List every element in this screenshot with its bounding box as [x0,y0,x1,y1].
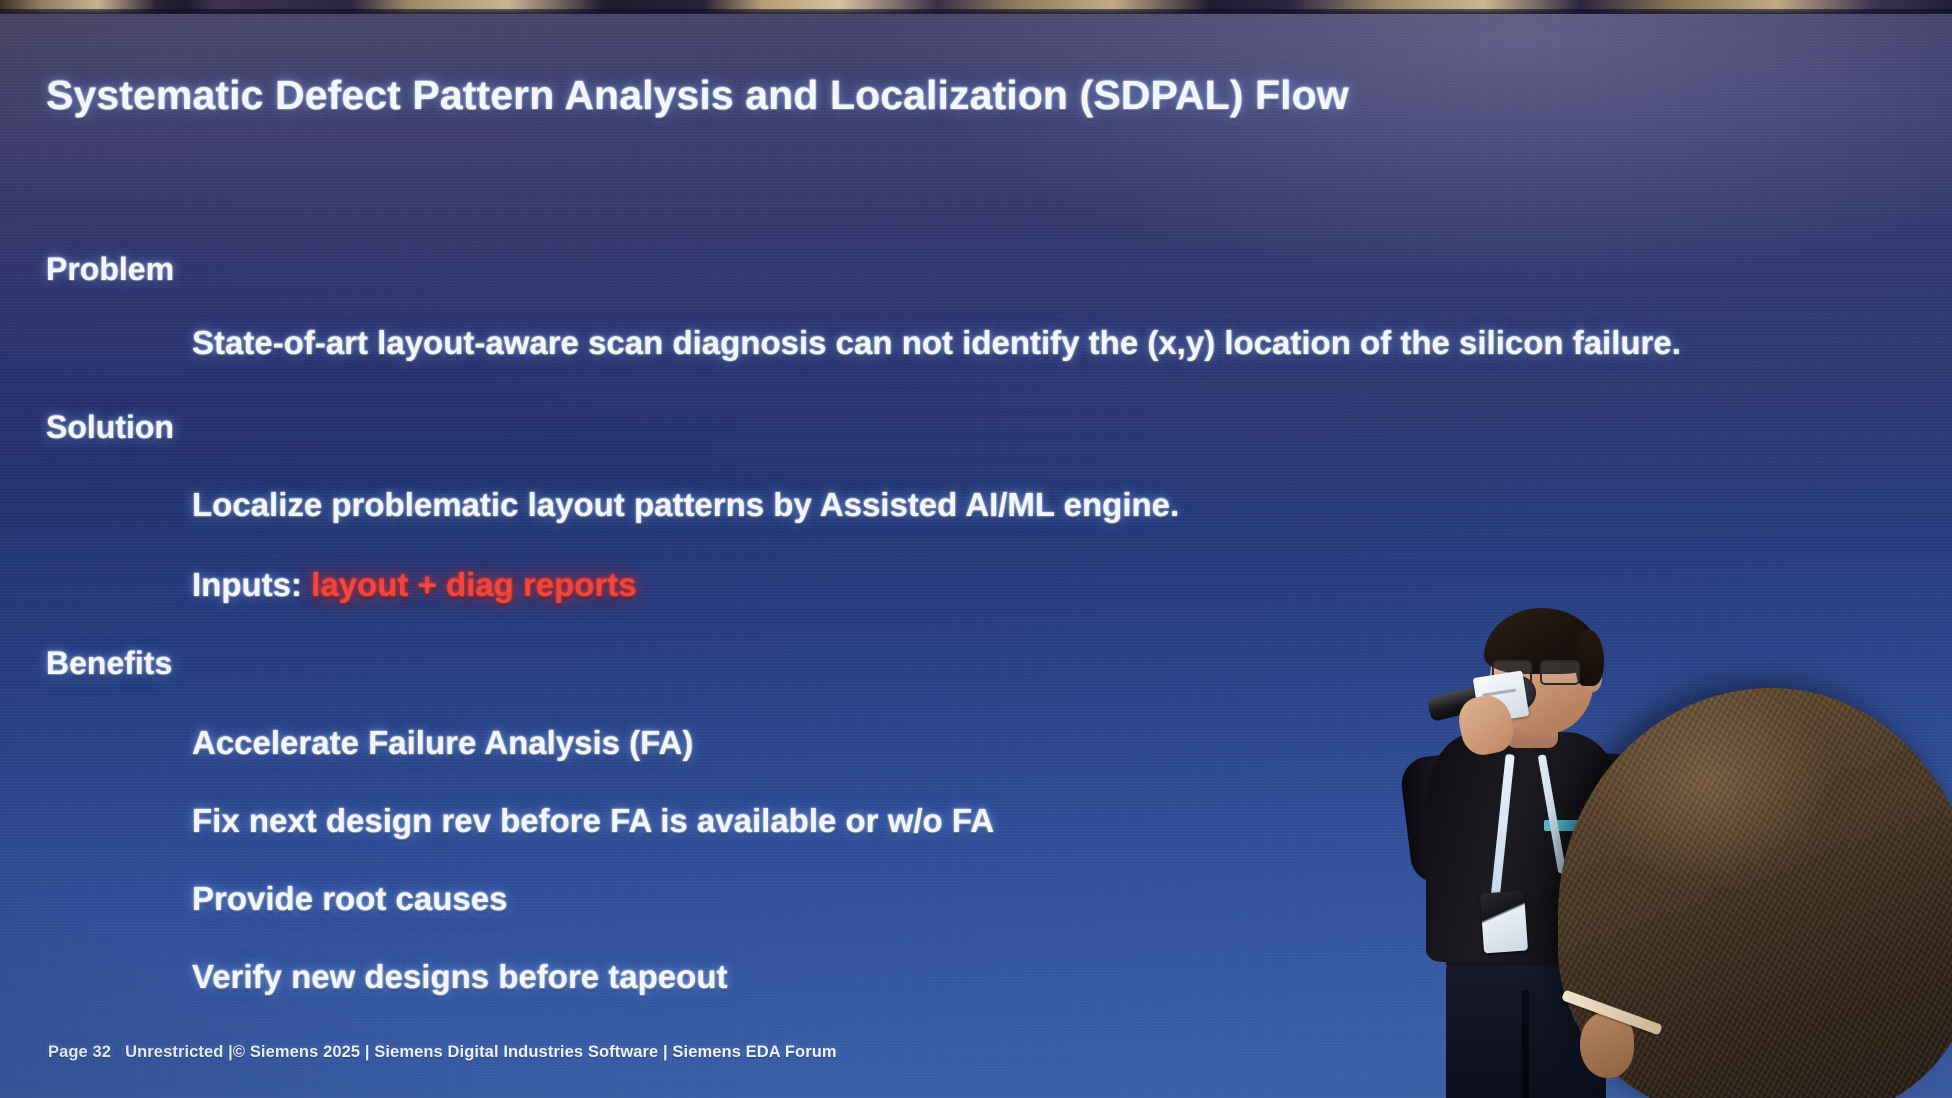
projected-slide: Systematic Defect Pattern Analysis and L… [0,14,1952,1098]
bullet-benefit-3: Provide root causes [192,880,507,918]
bullet-problem-1: State-of-art layout-aware scan diagnosis… [192,324,1681,362]
section-heading-benefits: Benefits [46,645,172,682]
audience-member-head [1558,688,1952,1098]
bullet-solution-inputs: Inputs: layout + diag reports [192,566,637,604]
section-heading-problem: Problem [46,251,174,288]
bullet-benefit-2: Fix next design rev before FA is availab… [192,802,994,840]
slide-footer: Page 32 Unrestricted |© Siemens 2025 | S… [48,1043,837,1062]
ceiling-strip-above-screen [0,0,1952,14]
slide-title: Systematic Defect Pattern Analysis and L… [46,72,1349,119]
inputs-highlight-value: layout + diag reports [311,566,637,603]
inputs-label: Inputs: [192,566,311,603]
bullet-benefit-4: Verify new designs before tapeout [192,958,727,996]
presenter-badge [1480,891,1528,954]
bullet-benefit-1: Accelerate Failure Analysis (FA) [192,724,693,762]
bullet-solution-1: Localize problematic layout patterns by … [192,486,1179,524]
footer-legal-text: Unrestricted |© Siemens 2025 | Siemens D… [125,1043,837,1062]
footer-page-number: Page 32 [48,1043,111,1062]
section-heading-solution: Solution [46,409,174,446]
